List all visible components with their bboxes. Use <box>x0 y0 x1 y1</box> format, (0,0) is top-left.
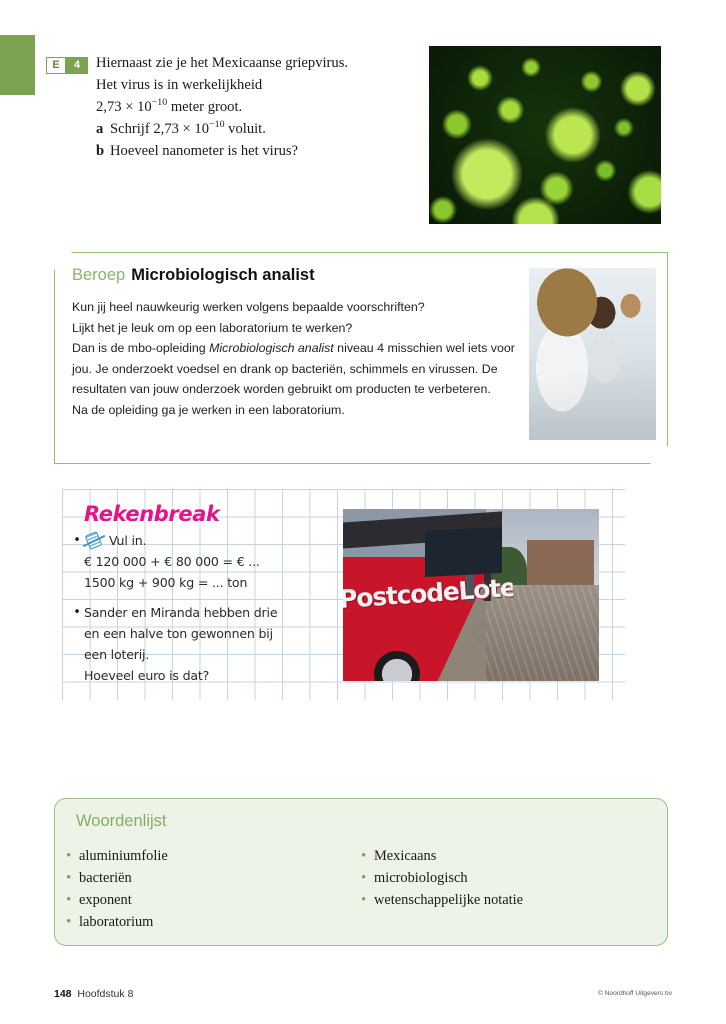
beroep-course-name: Microbiologisch analist <box>209 341 334 355</box>
exercise-sub-b: b Hoeveel nanometer is het virus? <box>96 140 416 162</box>
woordenlijst-title: Woordenlijst <box>76 812 166 831</box>
textbook-page: E 4 Hiernaast zie je het Mexicaanse grie… <box>0 0 726 1024</box>
woordenlijst-column-right: •Mexicaans •microbiologisch •wetenschapp… <box>361 845 656 933</box>
bullet-icon: • <box>66 911 79 933</box>
list-item: •bacteriën <box>66 867 361 889</box>
exercise-sub-b-label: b <box>96 140 110 162</box>
exercise-line-1: Hiernaast zie je het Mexicaanse griepvir… <box>96 52 416 74</box>
list-item: •Mexicaans <box>361 845 656 867</box>
list-item: •microbiologisch <box>361 867 656 889</box>
exercise-line-3-pre: 2,73 × 10 <box>96 99 152 115</box>
page-footer-left: 148 Hoofdstuk 8 <box>54 988 133 1000</box>
exercise-sub-a-pre: Schrijf 2,73 × 10 <box>110 121 209 137</box>
beroep-paragraph-1: Kun jij heel nauwkeurig werken volgens b… <box>72 297 527 318</box>
list-item: •exponent <box>66 889 361 911</box>
rekenbreak-story-line-1: Sander en Miranda hebben drie <box>84 602 277 623</box>
rekenbreak-story-line-2: en een halve ton gewonnen bij <box>84 623 277 644</box>
beroep-paragraph-2: Lijkt het je leuk om op een laboratorium… <box>72 318 527 339</box>
woordenlijst-column-left: •aluminiumfolie •bacteriën •exponent •la… <box>66 845 361 933</box>
beroep-kicker: Beroep <box>72 266 125 284</box>
rekenbreak-item-1: • Vul in. € 120 000 + € 80 000 = € ... 1… <box>70 530 350 593</box>
bullet-icon: • <box>361 889 374 911</box>
rekenbreak-item-2: • Sander en Miranda hebben drie en een h… <box>70 602 350 686</box>
copyright-notice: © Noordhoff Uitgevers bv <box>598 990 672 997</box>
woordenlijst-word: laboratorium <box>79 911 153 933</box>
list-bullet: • <box>70 530 84 593</box>
exercise-sub-a-text: Schrijf 2,73 × 10−10 voluit. <box>110 118 266 140</box>
postcodeloterij-photo: PostcodeLoterij <box>343 509 599 681</box>
bullet-icon: • <box>361 867 374 889</box>
bullet-icon: • <box>66 867 79 889</box>
woordenlijst-word: wetenschappelijke notatie <box>374 889 523 911</box>
beroep-paragraph-4: Na de opleiding ga je werken in een labo… <box>72 400 527 421</box>
woordenlijst-word: bacteriën <box>79 867 132 889</box>
chapter-color-tab <box>0 35 35 95</box>
exercise-block: E 4 Hiernaast zie je het Mexicaanse grie… <box>46 52 416 162</box>
rekenbreak-title: Rekenbreak <box>84 502 220 526</box>
beroep-paragraph-3-pre: Dan is de mbo-opleiding <box>72 341 209 355</box>
exercise-line-3-exponent: −10 <box>152 97 168 108</box>
exercise-text: Hiernaast zie je het Mexicaanse griepvir… <box>96 52 416 162</box>
exercise-line-2: Het virus is in werkelijkheid <box>96 74 416 96</box>
rekenbreak-instruction-row: Vul in. <box>84 530 260 551</box>
exercise-sub-a-exponent: −10 <box>209 119 225 130</box>
virus-photo <box>429 46 661 224</box>
rekenbreak-item-2-lines: Sander en Miranda hebben drie en een hal… <box>84 602 277 686</box>
exercise-sub-a-post: voluit. <box>225 121 266 137</box>
photo-van-wheel <box>374 651 420 681</box>
bullet-icon: • <box>361 845 374 867</box>
bullet-icon: • <box>66 845 79 867</box>
list-item: •aluminiumfolie <box>66 845 361 867</box>
exercise-sub-a: a Schrijf 2,73 × 10−10 voluit. <box>96 118 416 140</box>
photo-van-window <box>425 527 502 577</box>
list-item: •wetenschappelijke notatie <box>361 889 656 911</box>
woordenlijst-word: aluminiumfolie <box>79 845 168 867</box>
rekenbreak-story-line-3: een loterij. <box>84 644 277 665</box>
woordenlijst-columns: •aluminiumfolie •bacteriën •exponent •la… <box>66 845 656 933</box>
exercise-badge-number: 4 <box>66 57 88 74</box>
beroep-title: Microbiologisch analist <box>131 266 314 284</box>
beroep-paragraph-3: Dan is de mbo-opleiding Microbiologisch … <box>72 338 527 400</box>
rekenbreak-item-1-lines: Vul in. € 120 000 + € 80 000 = € ... 150… <box>84 530 260 593</box>
laboratory-photo <box>529 268 656 440</box>
rekenbreak-sum-kg: 1500 kg + 900 kg = ... ton <box>84 572 260 593</box>
list-bullet: • <box>70 602 84 686</box>
bullet-icon: • <box>66 889 79 911</box>
beroep-body-text: Kun jij heel nauwkeurig werken volgens b… <box>72 297 527 420</box>
woordenlijst-word: Mexicaans <box>374 845 436 867</box>
exercise-line-3-post: meter groot. <box>167 99 242 115</box>
list-item: •laboratorium <box>66 911 361 933</box>
exercise-sub-b-text: Hoeveel nanometer is het virus? <box>110 140 298 162</box>
rekenbreak-list: • Vul in. € 120 000 + € 80 000 = € ... 1… <box>70 530 350 689</box>
exercise-line-3: 2,73 × 10−10 meter groot. <box>96 96 416 118</box>
rekenbreak-sum-euro: € 120 000 + € 80 000 = € ... <box>84 551 260 572</box>
rekenbreak-story-line-4: Hoeveel euro is dat? <box>84 665 277 686</box>
no-calculator-icon <box>84 533 104 548</box>
rekenbreak-instruction: Vul in. <box>109 533 146 548</box>
page-number: 148 <box>54 988 72 1000</box>
woordenlijst-word: microbiologisch <box>374 867 468 889</box>
exercise-sub-a-label: a <box>96 118 110 140</box>
exercise-badge: E 4 <box>46 57 88 74</box>
chapter-label: Hoofdstuk 8 <box>77 988 133 1000</box>
exercise-badge-letter: E <box>46 57 66 74</box>
woordenlijst-word: exponent <box>79 889 132 911</box>
